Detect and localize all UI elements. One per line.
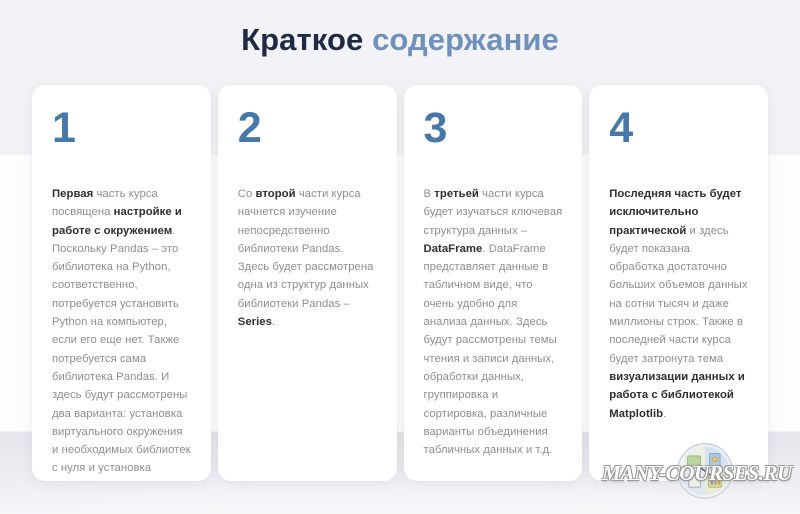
card-body-text: Последняя часть будет исключительно прак…	[609, 185, 748, 423]
card-body-text: Со второй части курса начнется изучение …	[238, 185, 377, 331]
card-number: 4	[609, 107, 748, 150]
summary-card-list: 1Первая часть курса посвящена настройке …	[32, 85, 768, 481]
card-text-run: части курса начнется изучение непосредст…	[238, 188, 374, 310]
page-title-accent: содержание	[372, 22, 559, 57]
watermark-text: MANY-COURSES.RU	[602, 461, 792, 486]
card-text-run: . DataFrame представляет данные в таблич…	[424, 243, 557, 456]
page-title: Краткое содержание	[0, 21, 800, 58]
card-body-text: В третьей части курса будет изучаться кл…	[424, 185, 563, 459]
card-text-emphasis: Series	[238, 316, 272, 328]
summary-card: 4Последняя часть будет исключительно пра…	[589, 85, 768, 481]
summary-card: 3В третьей части курса будет изучаться к…	[404, 85, 583, 481]
card-text-run: Со	[238, 188, 256, 200]
card-text-run: .	[663, 408, 666, 420]
card-body-text: Первая часть курса посвящена настройке и…	[52, 185, 191, 481]
card-text-emphasis: второй	[255, 188, 295, 200]
card-number: 1	[52, 107, 191, 150]
card-text-emphasis: визуализации данных и работа с библиотек…	[609, 371, 745, 420]
watermark: MANY-COURSES.RU	[602, 442, 792, 504]
card-text-run: . Поскольку Pandas – это библиотека на P…	[52, 225, 191, 481]
card-text-emphasis: Первая	[52, 188, 93, 200]
page-title-primary: Краткое	[241, 22, 363, 57]
card-text-emphasis: DataFrame	[424, 243, 483, 255]
card-number: 3	[424, 107, 563, 150]
card-number: 2	[238, 107, 377, 150]
summary-card: 2Со второй части курса начнется изучение…	[218, 85, 397, 481]
card-text-emphasis: третьей	[434, 188, 479, 200]
summary-card: 1Первая часть курса посвящена настройке …	[32, 85, 211, 481]
card-text-run: .	[272, 316, 275, 328]
card-text-run: и здесь будет показана обработка достато…	[609, 225, 747, 365]
card-text-run: В	[424, 188, 435, 200]
